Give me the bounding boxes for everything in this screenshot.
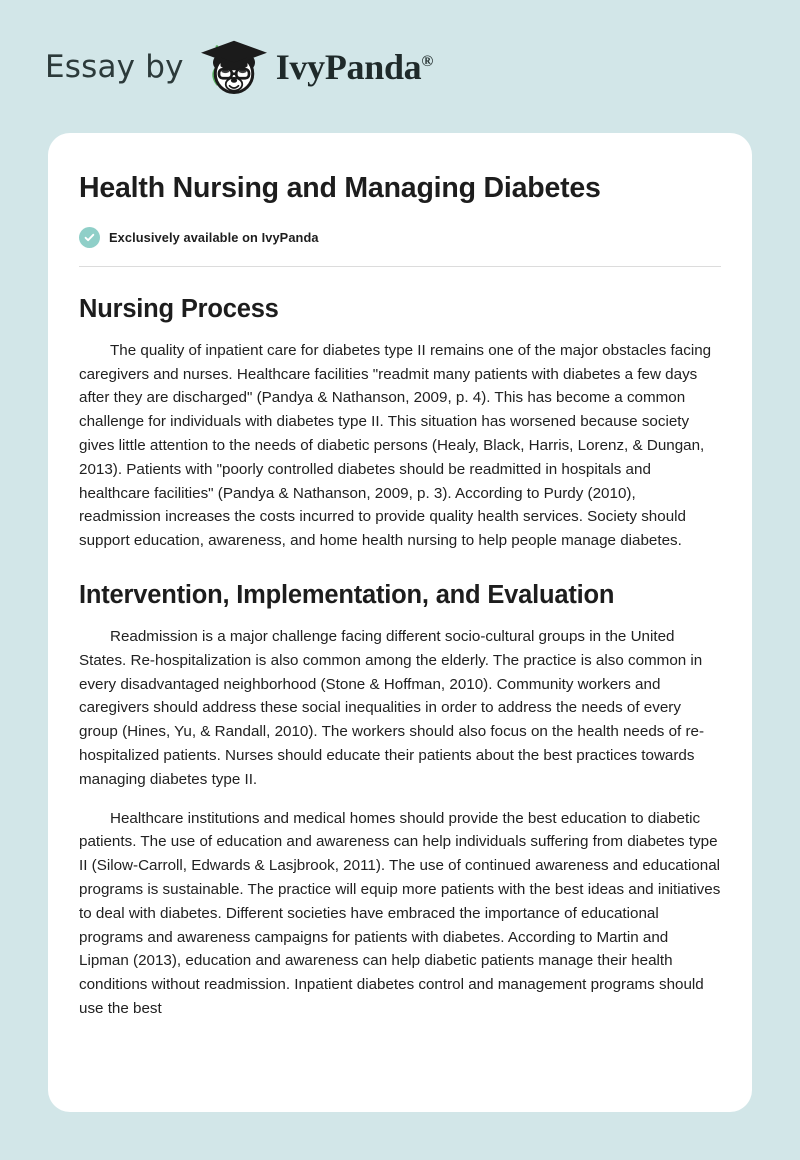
section-heading: Nursing Process [79, 294, 721, 325]
title-divider [79, 266, 721, 267]
page-title: Health Nursing and Managing Diabetes [79, 171, 721, 207]
wordmark-text: IvyPanda [276, 47, 422, 87]
essay-section: Intervention, Implementation, and Evalua… [79, 580, 721, 1021]
check-circle-icon [79, 227, 100, 248]
essay-paper-card: Health Nursing and Managing Diabetes Exc… [48, 133, 752, 1112]
section-heading: Intervention, Implementation, and Evalua… [79, 580, 721, 611]
brand-header: Essay by [0, 0, 800, 133]
ivypanda-wordmark: IvyPanda® [276, 46, 433, 88]
exclusive-badge: Exclusively available on IvyPanda [79, 227, 721, 248]
registered-mark: ® [421, 53, 433, 70]
section-paragraph: Readmission is a major challenge facing … [79, 625, 721, 792]
essay-by-label: Essay by [45, 49, 184, 85]
essay-section: Nursing Process The quality of inpatient… [79, 294, 721, 553]
section-paragraph: Healthcare institutions and medical home… [79, 807, 721, 1021]
section-paragraph: The quality of inpatient care for diabet… [79, 339, 721, 553]
panda-graduate-icon [198, 36, 270, 98]
exclusive-badge-label: Exclusively available on IvyPanda [109, 230, 319, 245]
